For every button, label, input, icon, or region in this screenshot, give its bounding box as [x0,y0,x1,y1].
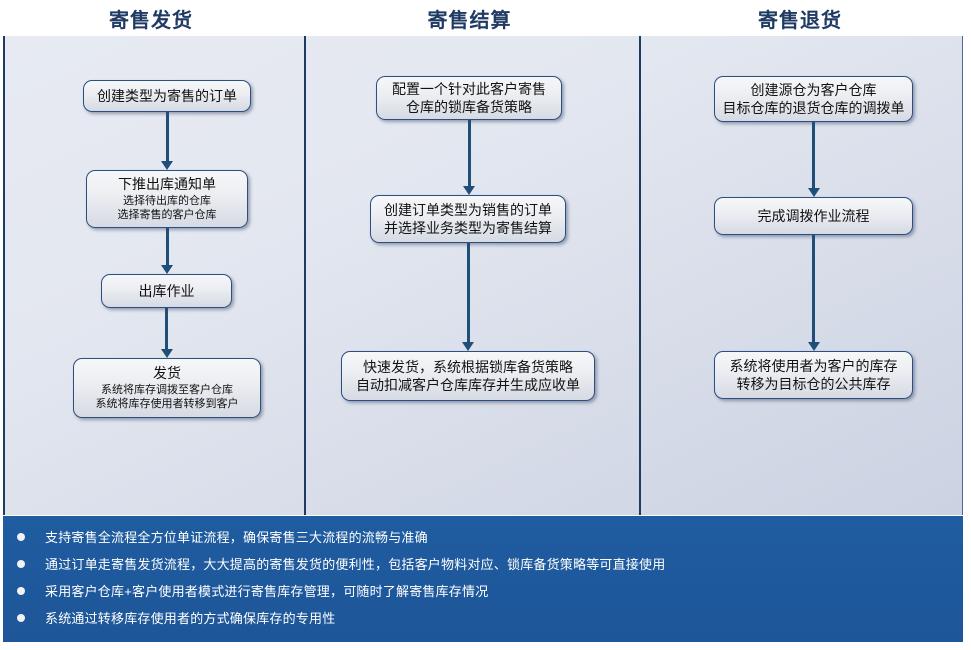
node-shipment-3[interactable]: 出库作业 [101,274,232,308]
node-shipment-2[interactable]: 下推出库通知单 选择待出库的仓库 选择寄售的客户仓库 [86,170,248,228]
bullet-text: 系统通过转移库存使用者的方式确保库存的专用性 [45,608,335,627]
node-subtitle: 仓库的锁库备货策略 [406,98,532,116]
node-subtitle: 系统将库存调拨至客户仓库 [101,383,233,398]
column-divider-1 [304,36,306,515]
arrow-return-1-2 [714,122,913,197]
bullet-icon [17,533,25,541]
node-title: 系统将使用者为客户的库存 [730,357,898,375]
arrow-shipment-1-2 [83,112,251,170]
arrow-settlement-1-2 [376,120,562,195]
bullet-icon [17,587,25,595]
node-return-2[interactable]: 完成调拨作业流程 [714,197,913,235]
node-subtitle: 并选择业务类型为寄售结算 [384,219,552,237]
arrow-settlement-2-3 [370,243,566,351]
node-subtitle: 系统将库存使用者转移到客户 [96,397,239,412]
column-header-shipment: 寄售发货 [0,4,302,33]
node-title: 出库作业 [139,282,195,300]
node-title: 创建订单类型为销售的订单 [384,201,552,219]
list-item: 采用客户仓库+客户使用者模式进行寄售库存管理，可随时了解寄售库存情况 [3,581,963,608]
node-subtitle: 目标仓库的退货仓库的调拨单 [723,99,905,117]
node-subtitle: 自动扣减客户仓库库存并生成应收单 [356,376,580,394]
node-settlement-2[interactable]: 创建订单类型为销售的订单 并选择业务类型为寄售结算 [370,195,566,243]
bullet-text: 通过订单走寄售发货流程，大大提高的寄售发货的便利性，包括客户物料对应、锁库备货策… [45,554,665,573]
bullet-text: 支持寄售全流程全方位单证流程，确保寄售三大流程的流畅与准确 [45,527,428,546]
arrow-return-2-3 [714,235,913,351]
list-item: 通过订单走寄售发货流程，大大提高的寄售发货的便利性，包括客户物料对应、锁库备货策… [3,554,963,581]
node-shipment-4[interactable]: 发货 系统将库存调拨至客户仓库 系统将库存使用者转移到客户 [73,358,261,418]
arrow-shipment-2-3 [86,228,248,274]
column-header-settlement: 寄售结算 [302,4,637,33]
arrow-shipment-3-4 [101,308,232,358]
node-title: 创建源仓为客户仓库 [751,81,877,99]
list-item: 支持寄售全流程全方位单证流程，确保寄售三大流程的流畅与准确 [3,527,963,554]
node-title: 发货 [153,364,181,382]
node-settlement-3[interactable]: 快速发货，系统根据锁库备货策略 自动扣减客户仓库库存并生成应收单 [341,351,595,401]
node-subtitle: 转移为目标仓的公共库存 [737,375,891,393]
node-shipment-1[interactable]: 创建类型为寄售的订单 [83,80,251,112]
node-title: 配置一个针对此客户寄售 [392,80,546,98]
bullet-icon [17,614,25,622]
summary-panel: 支持寄售全流程全方位单证流程，确保寄售三大流程的流畅与准确 通过订单走寄售发货流… [3,516,963,642]
list-item: 系统通过转移库存使用者的方式确保库存的专用性 [3,608,963,635]
node-subtitle: 选择寄售的客户仓库 [118,208,217,223]
node-title: 完成调拨作业流程 [758,207,870,225]
column-divider-2 [639,36,641,515]
node-return-1[interactable]: 创建源仓为客户仓库 目标仓库的退货仓库的调拨单 [714,76,913,122]
node-subtitle: 选择待出库的仓库 [123,194,211,209]
bullet-text: 采用客户仓库+客户使用者模式进行寄售库存管理，可随时了解寄售库存情况 [45,581,488,600]
bullet-icon [17,560,25,568]
node-title: 创建类型为寄售的订单 [97,87,237,105]
node-title: 快速发货，系统根据锁库备货策略 [363,358,573,376]
node-title: 下推出库通知单 [118,175,216,193]
column-headers: 寄售发货 寄售结算 寄售退货 [0,0,971,36]
column-header-return: 寄售退货 [637,4,963,33]
flow-panel: 创建类型为寄售的订单 下推出库通知单 选择待出库的仓库 选择寄售的客户仓库 出库… [3,36,963,515]
consignment-flow-diagram: 寄售发货 寄售结算 寄售退货 创建类型为寄售的订单 下推出库通知单 选择待出库的… [0,0,971,650]
node-settlement-1[interactable]: 配置一个针对此客户寄售 仓库的锁库备货策略 [376,76,562,120]
node-return-3[interactable]: 系统将使用者为客户的库存 转移为目标仓的公共库存 [714,351,913,399]
